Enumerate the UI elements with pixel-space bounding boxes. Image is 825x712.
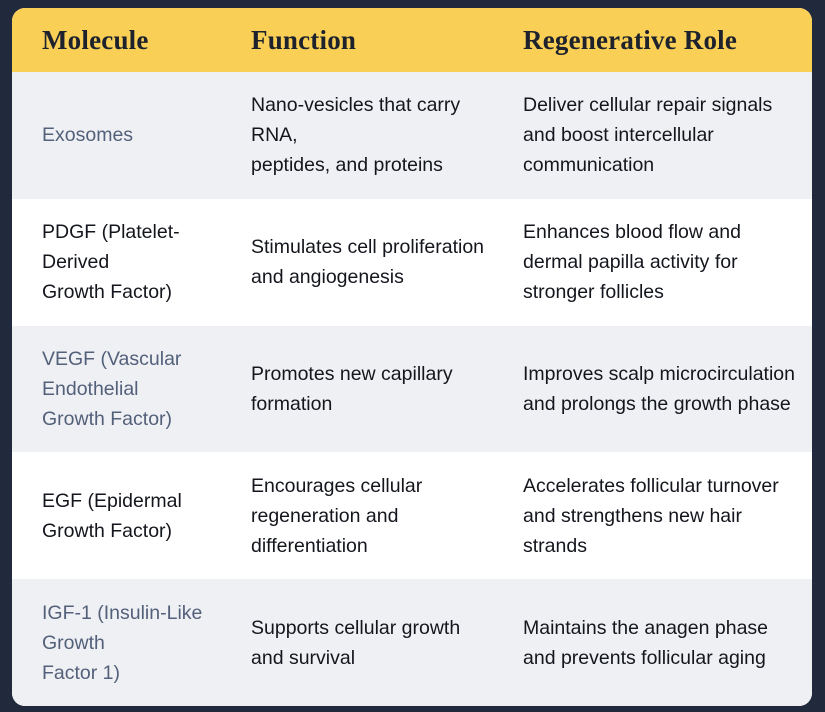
cell-molecule: PDGF (Platelet-Derived Growth Factor) <box>12 199 230 326</box>
table-row: IGF-1 (Insulin-Like Growth Factor 1)Supp… <box>12 579 812 706</box>
cell-regenerative-role: Accelerates follicular turnover and stre… <box>500 452 812 579</box>
table-header-row: Molecule Function Regenerative Role <box>12 8 812 72</box>
cell-regenerative-role: Enhances blood flow and dermal papilla a… <box>500 199 812 326</box>
table-row: VEGF (Vascular Endothelial Growth Factor… <box>12 326 812 453</box>
column-header-function: Function <box>230 8 500 72</box>
cell-function: Promotes new capillary formation <box>230 326 500 453</box>
table-row: EGF (Epidermal Growth Factor)Encourages … <box>12 452 812 579</box>
cell-function: Supports cellular growth and survival <box>230 579 500 706</box>
cell-function: Nano-vesicles that carry RNA, peptides, … <box>230 72 500 199</box>
table-row: PDGF (Platelet-Derived Growth Factor)Sti… <box>12 199 812 326</box>
cell-molecule: VEGF (Vascular Endothelial Growth Factor… <box>12 326 230 453</box>
table-body: ExosomesNano-vesicles that carry RNA, pe… <box>12 72 812 706</box>
cell-regenerative-role: Improves scalp microcirculation and prol… <box>500 326 812 453</box>
molecule-table: Molecule Function Regenerative Role Exos… <box>12 8 812 706</box>
table-row: ExosomesNano-vesicles that carry RNA, pe… <box>12 72 812 199</box>
column-header-molecule: Molecule <box>12 8 230 72</box>
cell-regenerative-role: Deliver cellular repair signals and boos… <box>500 72 812 199</box>
cell-function: Stimulates cell proliferation and angiog… <box>230 199 500 326</box>
cell-molecule: IGF-1 (Insulin-Like Growth Factor 1) <box>12 579 230 706</box>
cell-function: Encourages cellular regeneration and dif… <box>230 452 500 579</box>
cell-molecule: Exosomes <box>12 72 230 199</box>
cell-molecule: EGF (Epidermal Growth Factor) <box>12 452 230 579</box>
table-header: Molecule Function Regenerative Role <box>12 8 812 72</box>
cell-regenerative-role: Maintains the anagen phase and prevents … <box>500 579 812 706</box>
molecule-table-container: Molecule Function Regenerative Role Exos… <box>12 8 812 706</box>
column-header-regenerative-role: Regenerative Role <box>500 8 812 72</box>
